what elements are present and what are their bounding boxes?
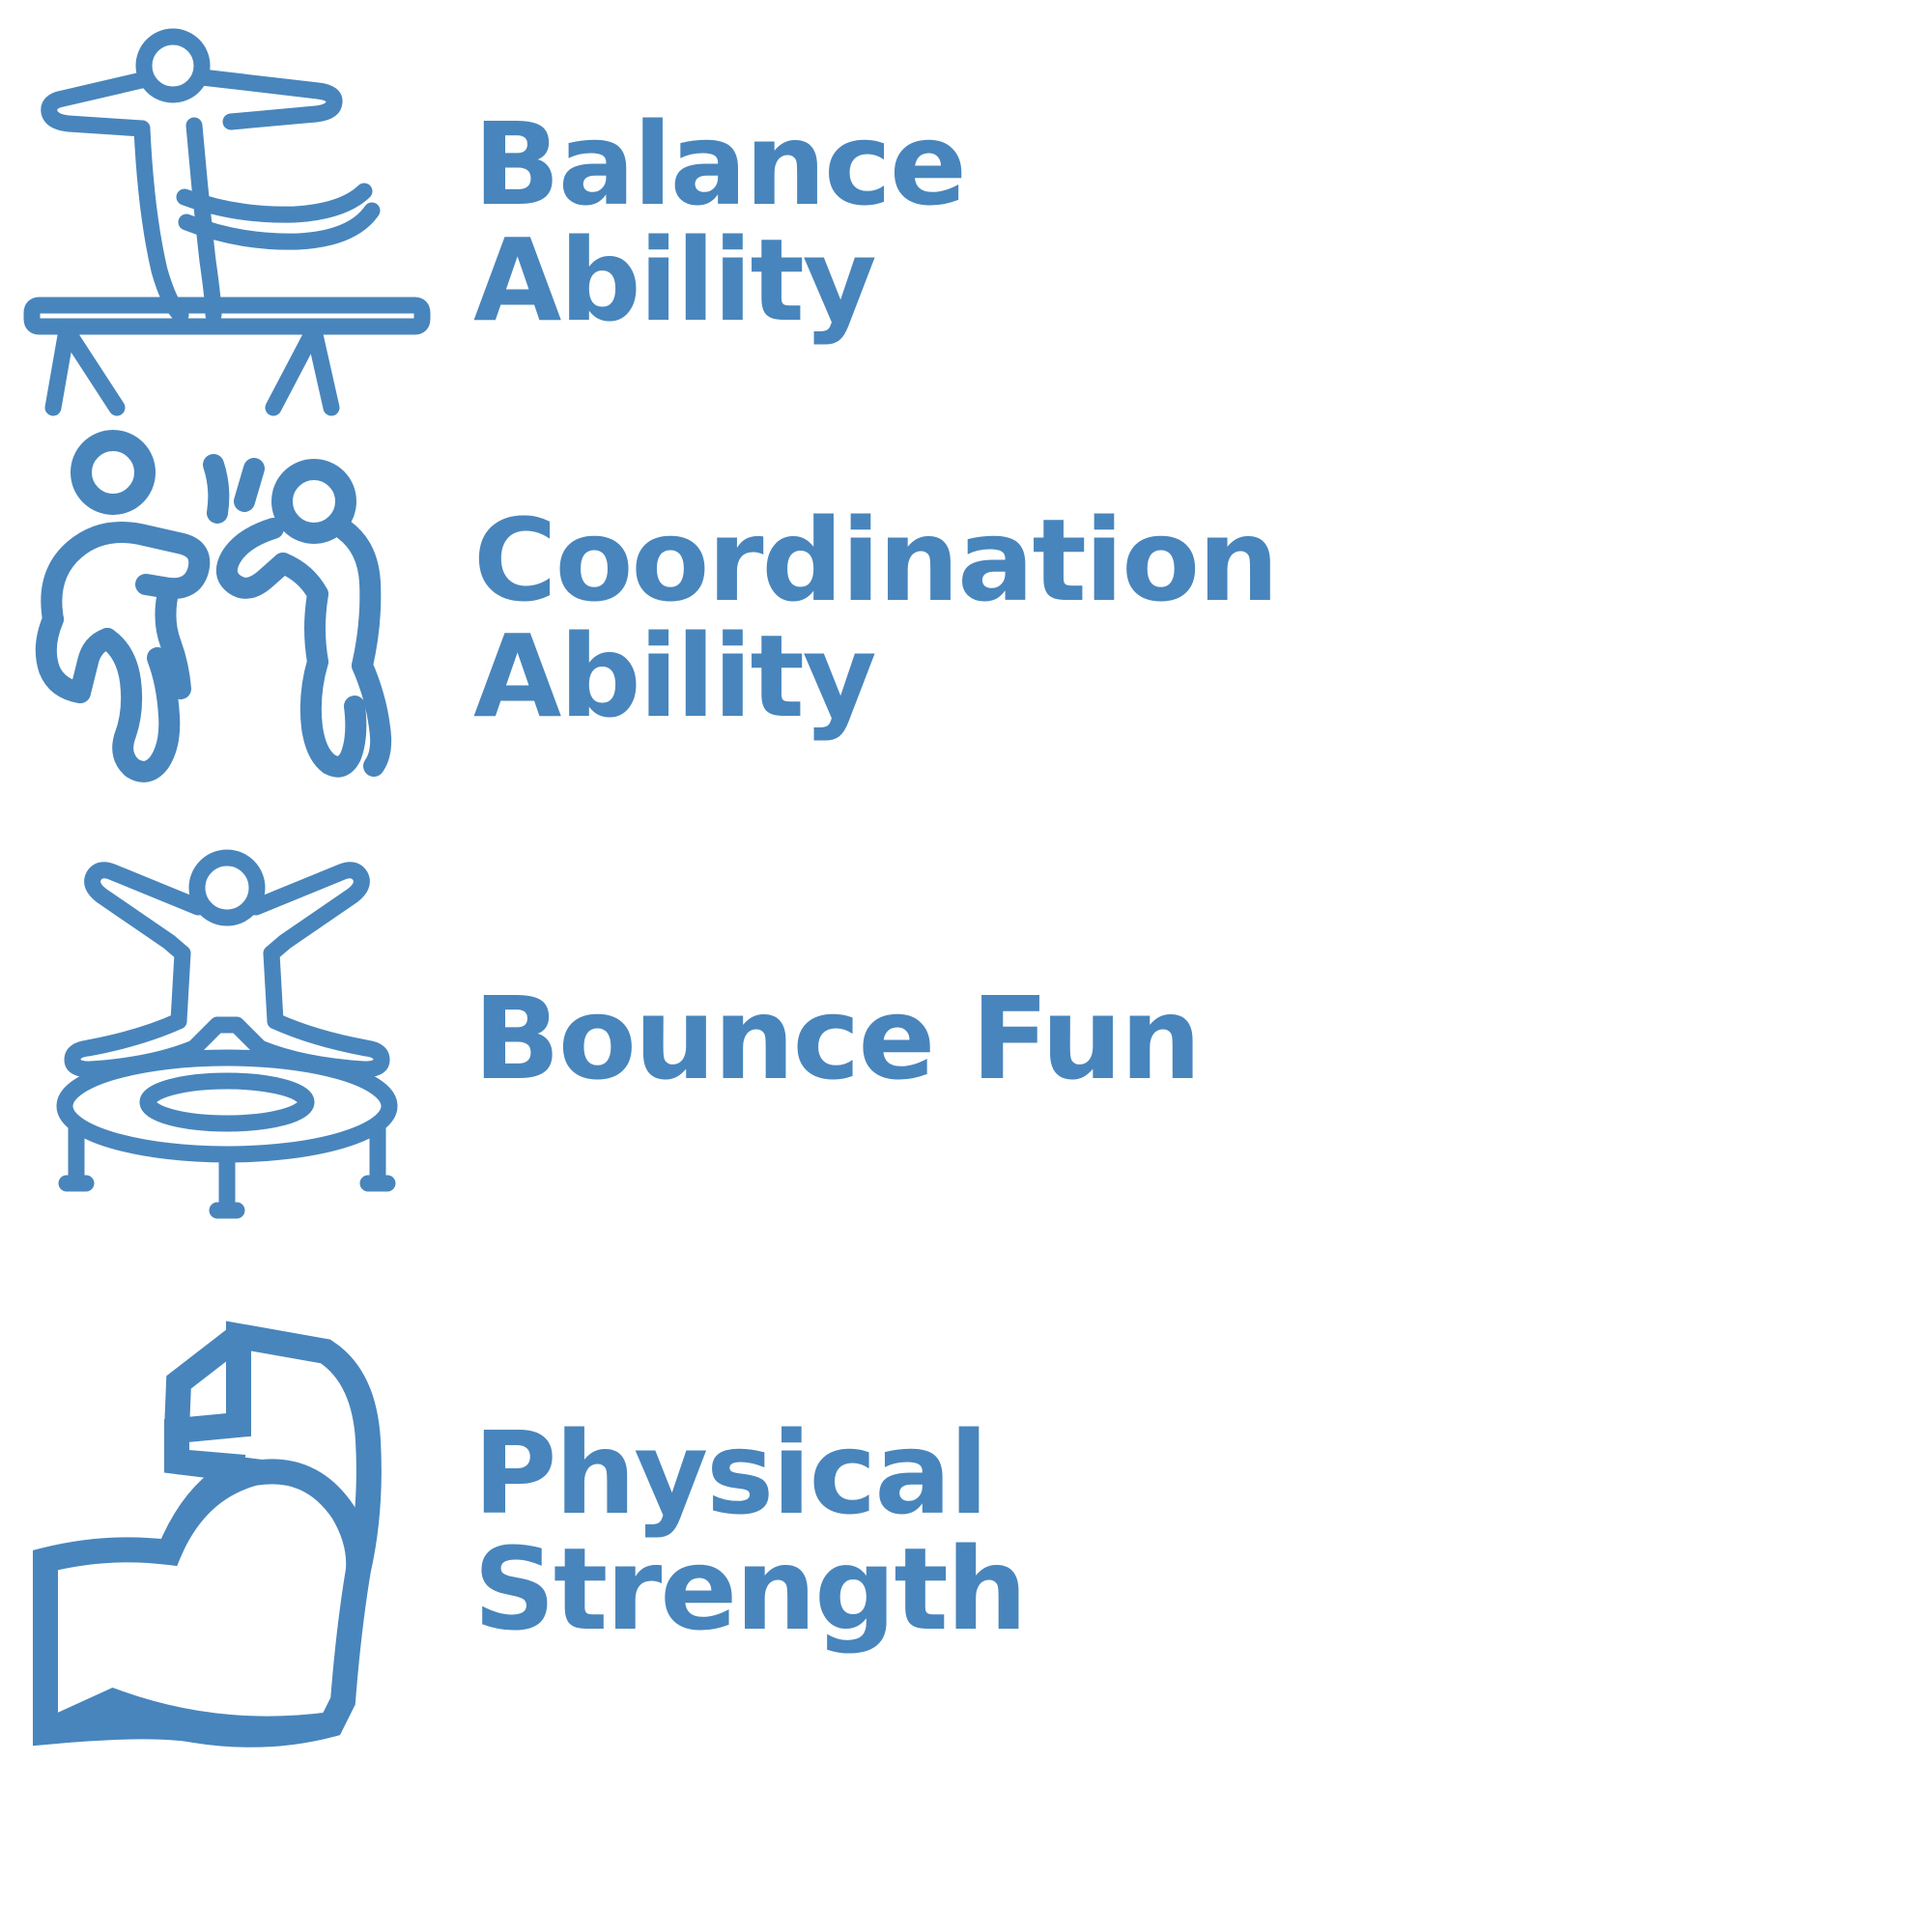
label-cell: Physical Strength [454, 1415, 1932, 1648]
figure-jumping-on-trampoline-icon [0, 836, 454, 1241]
label-cell: Bounce Fun [454, 980, 1932, 1096]
feature-row: Balance Ability [0, 29, 1932, 415]
feature-row: Coordination Ability [0, 430, 1932, 807]
two-figures-high-five-icon [0, 415, 454, 821]
feature-row: Physical Strength [0, 1304, 1932, 1758]
feature-label: Coordination Ability [473, 502, 1932, 735]
feature-label: Physical Strength [473, 1415, 1932, 1648]
balance-beam-figure-icon [0, 19, 454, 425]
infographic-canvas: Balance Ability [0, 0, 1932, 1932]
label-cell: Balance Ability [454, 106, 1932, 339]
feature-row: Bounce Fun [0, 836, 1932, 1241]
label-cell: Coordination Ability [454, 502, 1932, 735]
feature-label: Balance Ability [473, 106, 1932, 339]
feature-label: Bounce Fun [473, 980, 1932, 1096]
flexed-bicep-arm-icon [0, 1328, 454, 1734]
